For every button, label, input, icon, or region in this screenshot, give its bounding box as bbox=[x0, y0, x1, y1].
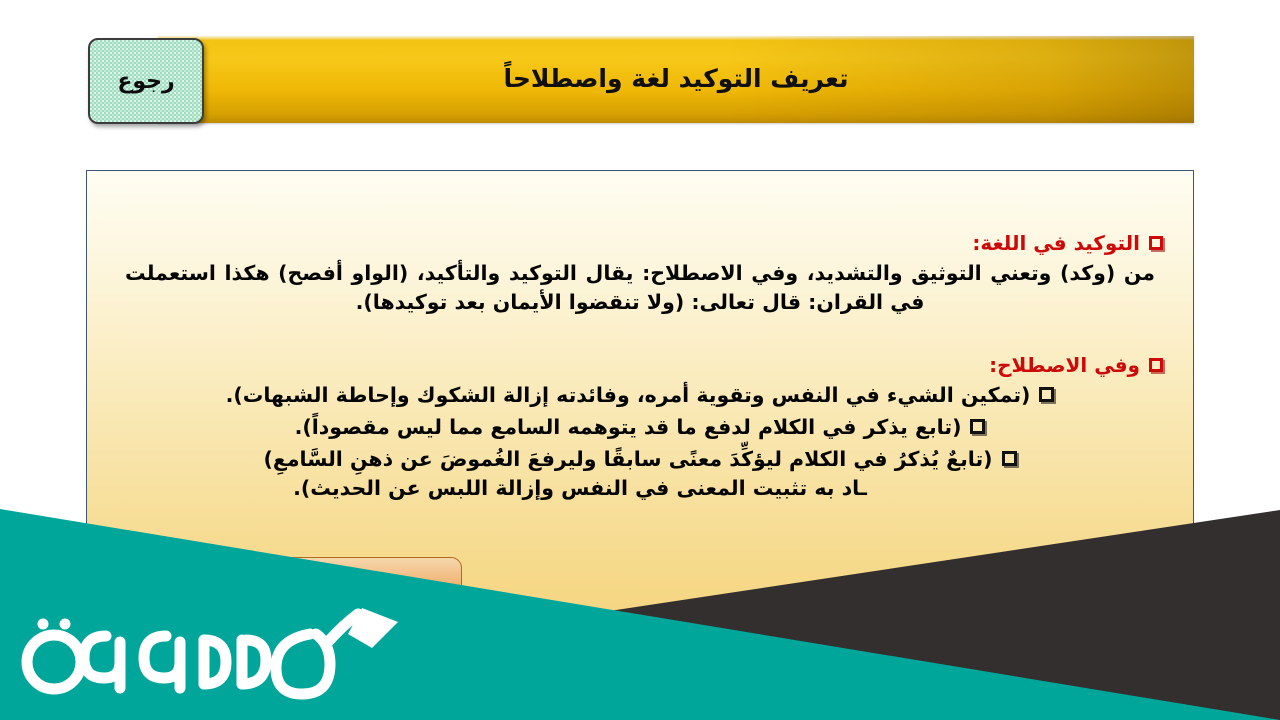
orange-action-button-label: أ bbox=[366, 581, 373, 605]
red-square-bullet-icon bbox=[1149, 358, 1163, 372]
section-lughah-body: من (وكد) وتعني التوثيق والتشديد، وفي الا… bbox=[125, 259, 1155, 317]
back-button-label: رجوع bbox=[117, 69, 174, 94]
list-item-label: (تمكين الشيء في النفس وتقوية أمره، وفائد… bbox=[226, 381, 1031, 411]
list-item-label: (تابع يذكر في الكلام لدفع ما قد يتوهمه ا… bbox=[295, 413, 962, 443]
slide-title-bar: تعريف التوكيد لغة واصطلاحاً bbox=[158, 36, 1194, 123]
section-heading-label: وفي الاصطلاح: bbox=[989, 353, 1140, 377]
black-square-bullet-icon bbox=[970, 419, 985, 434]
orange-action-button[interactable]: أ bbox=[276, 557, 462, 629]
content-panel: التوكيد في اللغة: من (وكد) وتعني التوثيق… bbox=[86, 170, 1194, 634]
bullet-list: (تمكين الشيء في النفس وتقوية أمره، وفائد… bbox=[117, 381, 1163, 504]
black-square-bullet-icon bbox=[1039, 387, 1054, 402]
body-line: في القران: قال تعالى: (ولا تنقضوا الأيما… bbox=[125, 288, 1155, 317]
section-spacer bbox=[117, 317, 1163, 353]
back-button[interactable]: رجوع bbox=[88, 38, 204, 124]
body-line: من (وكد) وتعني التوثيق والتشديد، وفي الا… bbox=[125, 259, 1155, 288]
section-heading-label: التوكيد في اللغة: bbox=[972, 231, 1140, 255]
red-square-bullet-icon bbox=[1149, 236, 1163, 250]
list-item: (تابع يذكر في الكلام لدفع ما قد يتوهمه ا… bbox=[117, 413, 1163, 443]
list-item: (تابعٌ يُذكرُ في الكلام ليؤكِّدَ معنًى س… bbox=[117, 445, 1163, 475]
page-title: تعريف التوكيد لغة واصطلاحاً bbox=[158, 36, 1194, 123]
list-item: (تمكين الشيء في النفس وتقوية أمره، وفائد… bbox=[117, 381, 1163, 411]
list-item-continuation: ـاد به تثبيت المعنى في النفس وإزالة اللب… bbox=[117, 474, 1163, 504]
section-heading-istilah: وفي الاصطلاح: bbox=[117, 353, 1163, 377]
content-inner: التوكيد في اللغة: من (وكد) وتعني التوثيق… bbox=[87, 171, 1193, 504]
black-square-bullet-icon bbox=[1002, 451, 1017, 466]
section-heading-lughah: التوكيد في اللغة: bbox=[117, 231, 1163, 255]
slide-root: تعريف التوكيد لغة واصطلاحاً رجوع التوكيد… bbox=[0, 0, 1280, 720]
list-item-label: (تابعٌ يُذكرُ في الكلام ليؤكِّدَ معنًى س… bbox=[263, 445, 992, 475]
